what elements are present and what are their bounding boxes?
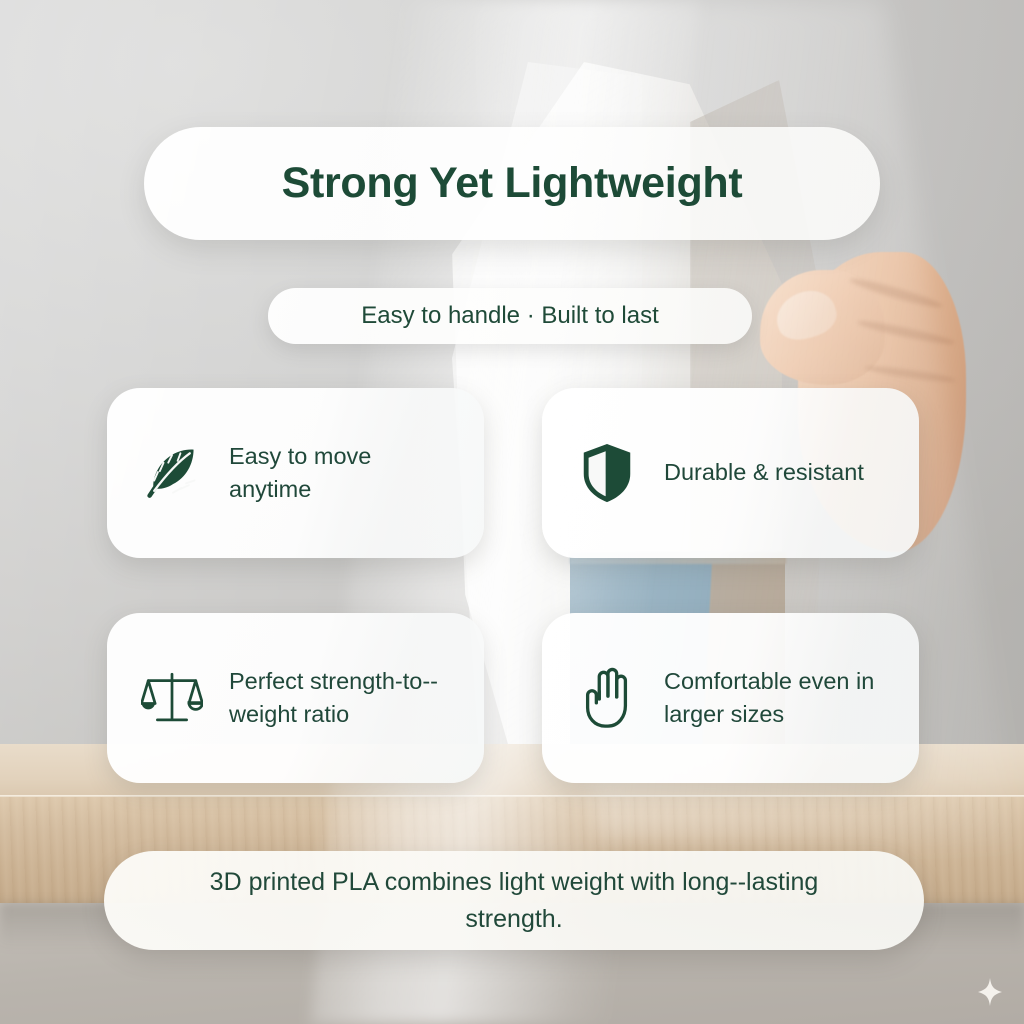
- footer-caption: 3D printed PLA combines light weight wit…: [169, 864, 859, 937]
- feature-card-grid: Easy to move anytime Durable & resistant: [107, 388, 919, 783]
- feature-label: Perfect strength-to--weight ratio: [229, 665, 457, 732]
- feature-label: Easy to move anytime: [229, 440, 457, 507]
- title-pill: Strong Yet Lightweight: [144, 127, 880, 240]
- subtitle-pill: Easy to handle · Built to last: [268, 288, 752, 344]
- feature-card-easy-to-move[interactable]: Easy to move anytime: [107, 388, 484, 558]
- footer-caption-pill: 3D printed PLA combines light weight wit…: [104, 851, 924, 950]
- feature-card-comfortable[interactable]: Comfortable even in larger sizes: [542, 613, 919, 783]
- page-title: Strong Yet Lightweight: [282, 159, 743, 208]
- feature-card-strength-to-weight[interactable]: Perfect strength-to--weight ratio: [107, 613, 484, 783]
- feather-icon: [141, 442, 203, 504]
- feature-label: Comfortable even in larger sizes: [664, 665, 892, 732]
- product-feature-poster: Strong Yet Lightweight Easy to handle · …: [0, 0, 1024, 1024]
- feature-label: Durable & resistant: [664, 456, 864, 489]
- sparkle-icon: [978, 978, 1002, 1006]
- shield-icon: [576, 442, 638, 504]
- balance-scale-icon: [141, 667, 203, 729]
- page-subtitle: Easy to handle · Built to last: [361, 302, 659, 330]
- feature-card-durable[interactable]: Durable & resistant: [542, 388, 919, 558]
- open-hand-icon: [576, 667, 638, 729]
